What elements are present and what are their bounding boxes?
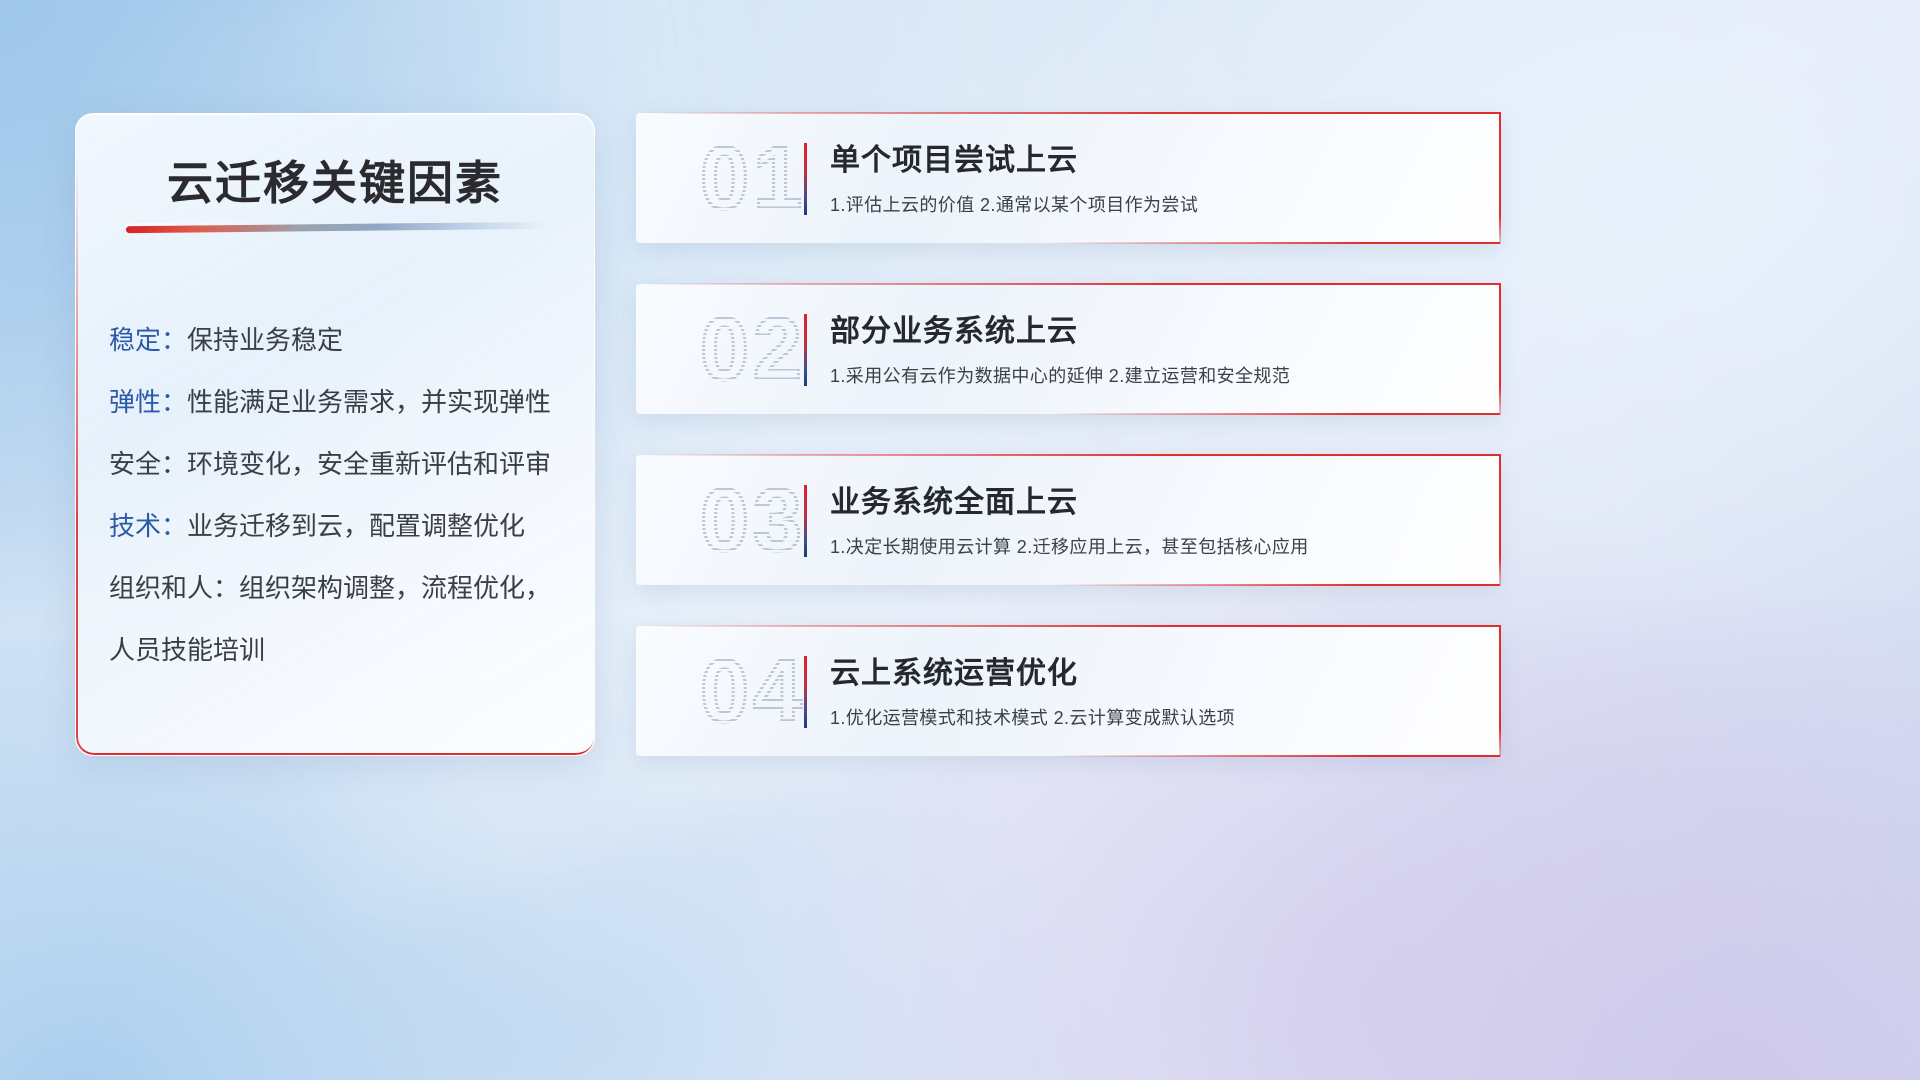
list-item: 稳定：保持业务稳定	[109, 309, 576, 371]
card-right-accent	[1499, 625, 1501, 757]
card-accent-bar	[804, 314, 807, 386]
stage-card-01[interactable]: 01 单个项目尝试上云 1.评估上云的价值 2.通常以某个项目作为尝试	[636, 113, 1500, 243]
card-title: 单个项目尝试上云	[830, 139, 1476, 183]
stage-card-list: 01 单个项目尝试上云 1.评估上云的价值 2.通常以某个项目作为尝试 02 部…	[636, 113, 1500, 797]
card-top-accent	[644, 283, 1500, 285]
card-top-accent	[644, 454, 1500, 456]
card-bottom-accent	[1051, 413, 1500, 415]
card-description: 1.优化运营模式和技术模式 2.云计算变成默认选项	[830, 704, 1476, 730]
card-top-accent	[644, 625, 1500, 627]
list-item-text: 环境变化，安全重新评估和评审	[187, 449, 551, 479]
stage-card-03[interactable]: 03 业务系统全面上云 1.决定长期使用云计算 2.迁移应用上云，甚至包括核心应…	[636, 455, 1500, 585]
card-number-text: 03	[700, 470, 806, 569]
list-item: 弹性：性能满足业务需求，并实现弹性	[109, 371, 576, 433]
card-body: 云上系统运营优化 1.优化运营模式和技术模式 2.云计算变成默认选项	[830, 652, 1476, 730]
card-accent-bar	[804, 656, 807, 728]
card-right-accent	[1499, 283, 1501, 415]
stage-card-04[interactable]: 04 云上系统运营优化 1.优化运营模式和技术模式 2.云计算变成默认选项	[636, 626, 1500, 756]
list-item-label: 弹性：	[109, 387, 187, 417]
card-title: 部分业务系统上云	[830, 310, 1476, 354]
card-accent-bar	[804, 143, 807, 215]
card-body: 部分业务系统上云 1.采用公有云作为数据中心的延伸 2.建立运营和安全规范	[830, 310, 1476, 388]
card-number-watermark: 04	[658, 639, 848, 743]
list-item-text: 业务迁移到云，配置调整优化	[187, 511, 525, 541]
list-item-text: 性能满足业务需求，并实现弹性	[187, 387, 551, 417]
list-item-text: 组织架构调整，流程优化，	[239, 573, 551, 603]
list-item: 组织和人：组织架构调整，流程优化，	[109, 557, 576, 619]
key-factors-list: 稳定：保持业务稳定 弹性：性能满足业务需求，并实现弹性 安全：环境变化，安全重新…	[109, 309, 576, 681]
card-description: 1.决定长期使用云计算 2.迁移应用上云，甚至包括核心应用	[830, 533, 1476, 559]
card-description: 1.采用公有云作为数据中心的延伸 2.建立运营和安全规范	[830, 362, 1476, 388]
card-number-text: 02	[700, 299, 806, 398]
card-title: 云上系统运营优化	[830, 652, 1476, 696]
card-right-accent	[1499, 112, 1501, 244]
card-bottom-accent	[1051, 755, 1500, 757]
card-number-text: 04	[700, 641, 806, 740]
card-bottom-accent	[1051, 584, 1500, 586]
card-top-accent	[644, 112, 1500, 114]
card-body: 单个项目尝试上云 1.评估上云的价值 2.通常以某个项目作为尝试	[830, 139, 1476, 217]
page-title: 云迁移关键因素	[76, 147, 594, 213]
card-title: 业务系统全面上云	[830, 481, 1476, 525]
stage-card-02[interactable]: 02 部分业务系统上云 1.采用公有云作为数据中心的延伸 2.建立运营和安全规范	[636, 284, 1500, 414]
card-number-text: 01	[700, 128, 806, 227]
list-item-label: 组织和人：	[109, 573, 239, 603]
list-item-label: 安全：	[109, 449, 187, 479]
list-item-label: 技术：	[109, 511, 187, 541]
card-number-watermark: 02	[658, 297, 848, 401]
card-accent-bar	[804, 485, 807, 557]
card-number-watermark: 03	[658, 468, 848, 572]
card-body: 业务系统全面上云 1.决定长期使用云计算 2.迁移应用上云，甚至包括核心应用	[830, 481, 1476, 559]
card-bottom-accent	[1051, 242, 1500, 244]
card-description: 1.评估上云的价值 2.通常以某个项目作为尝试	[830, 191, 1476, 217]
key-factors-panel: 云迁移关键因素 稳定：保持业务稳定 弹性：性能满足业务需求，并实现弹性 安全：环…	[75, 113, 595, 756]
list-item: 人员技能培训	[109, 619, 576, 681]
card-number-watermark: 01	[658, 126, 848, 230]
list-item: 安全：环境变化，安全重新评估和评审	[109, 433, 576, 495]
list-item-label: 稳定：	[109, 325, 187, 355]
card-right-accent	[1499, 454, 1501, 586]
list-item-text: 保持业务稳定	[187, 325, 343, 355]
list-item-text: 人员技能培训	[109, 635, 265, 665]
list-item: 技术：业务迁移到云，配置调整优化	[109, 495, 576, 557]
title-underline-accent	[126, 222, 546, 233]
